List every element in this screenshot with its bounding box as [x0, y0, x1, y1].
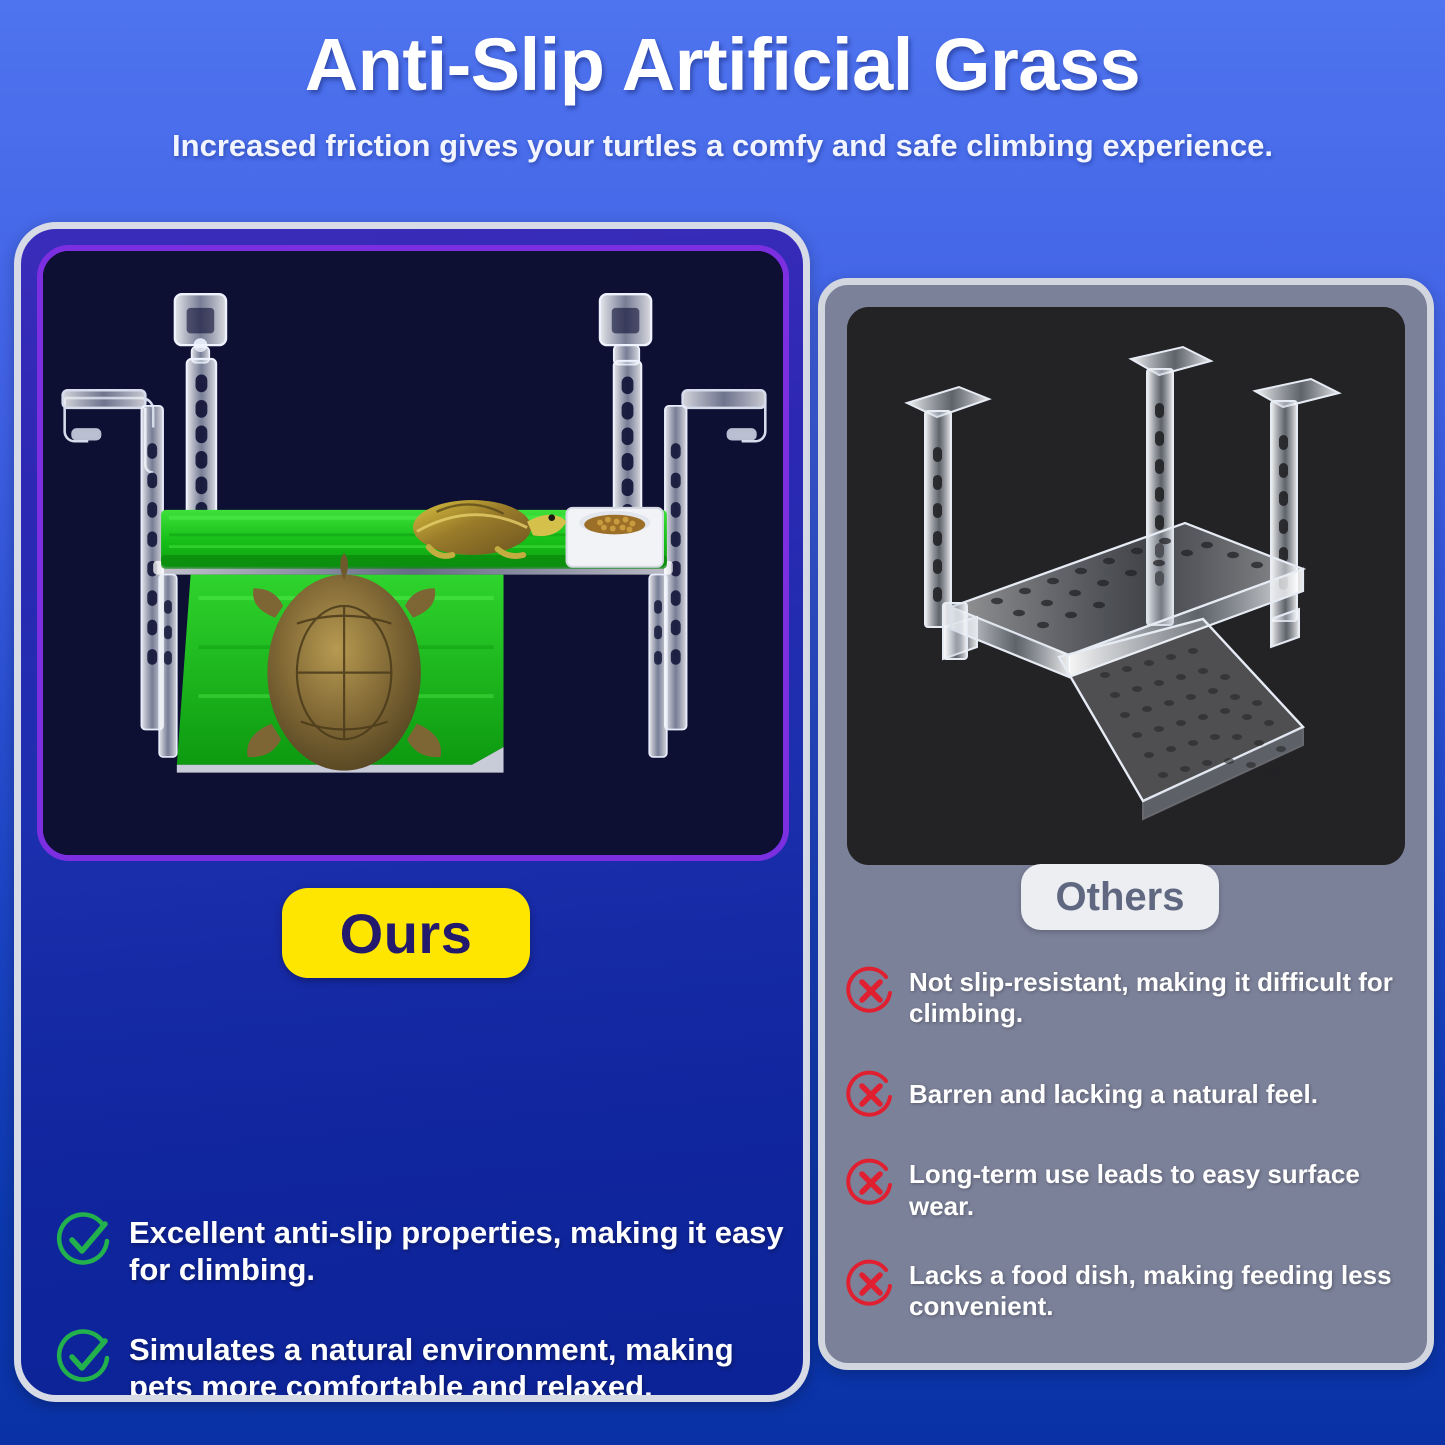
list-item-label: Long-term use leads to easy surface wear…: [909, 1159, 1423, 1221]
x-circle-icon: [845, 1069, 897, 1121]
list-item: Simulates a natural environment, making …: [55, 1330, 795, 1402]
x-circle-icon: [845, 1258, 897, 1310]
list-item: Lacks a food dish, making feeding less c…: [845, 1260, 1423, 1322]
page-subtitle: Increased friction gives your turtles a …: [0, 128, 1445, 164]
list-item-label: Lacks a food dish, making feeding less c…: [909, 1260, 1423, 1322]
ours-badge-label: Ours: [340, 901, 473, 966]
ours-benefits-list: Excellent anti-slip properties, making i…: [55, 1213, 795, 1402]
others-badge-label: Others: [1056, 875, 1185, 920]
others-product-photo-frame: [847, 307, 1405, 865]
ours-product-photo: [43, 251, 783, 855]
list-item: Barren and lacking a natural feel.: [845, 1067, 1423, 1121]
food-dish: [567, 508, 663, 567]
x-circle-icon: [845, 1157, 897, 1209]
page-header: Anti-Slip Artificial Grass Increased fri…: [0, 0, 1445, 200]
others-badge: Others: [1021, 864, 1219, 930]
ours-comparison-panel: Excellent anti-slip properties, making i…: [14, 222, 810, 1402]
list-item: Long-term use leads to easy surface wear…: [845, 1159, 1423, 1221]
others-comparison-panel: Not slip-resistant, making it difficult …: [818, 278, 1434, 1370]
others-product-illustration: [847, 307, 1405, 865]
ours-product-illustration: [43, 251, 783, 855]
ours-product-photo-frame: [37, 245, 789, 861]
list-item: Excellent anti-slip properties, making i…: [55, 1213, 795, 1288]
list-item-label: Simulates a natural environment, making …: [129, 1330, 795, 1402]
list-item-label: Barren and lacking a natural feel.: [909, 1067, 1318, 1110]
list-item-label: Not slip-resistant, making it difficult …: [909, 967, 1423, 1029]
list-item-label: Excellent anti-slip properties, making i…: [129, 1213, 795, 1288]
ours-badge: Ours: [282, 888, 530, 978]
check-circle-icon: [55, 1209, 115, 1269]
check-circle-icon: [55, 1326, 115, 1386]
page-title: Anti-Slip Artificial Grass: [0, 0, 1445, 102]
list-item: Not slip-resistant, making it difficult …: [845, 967, 1423, 1029]
others-drawbacks-list: Not slip-resistant, making it difficult …: [845, 967, 1423, 1322]
x-circle-icon: [845, 965, 897, 1017]
